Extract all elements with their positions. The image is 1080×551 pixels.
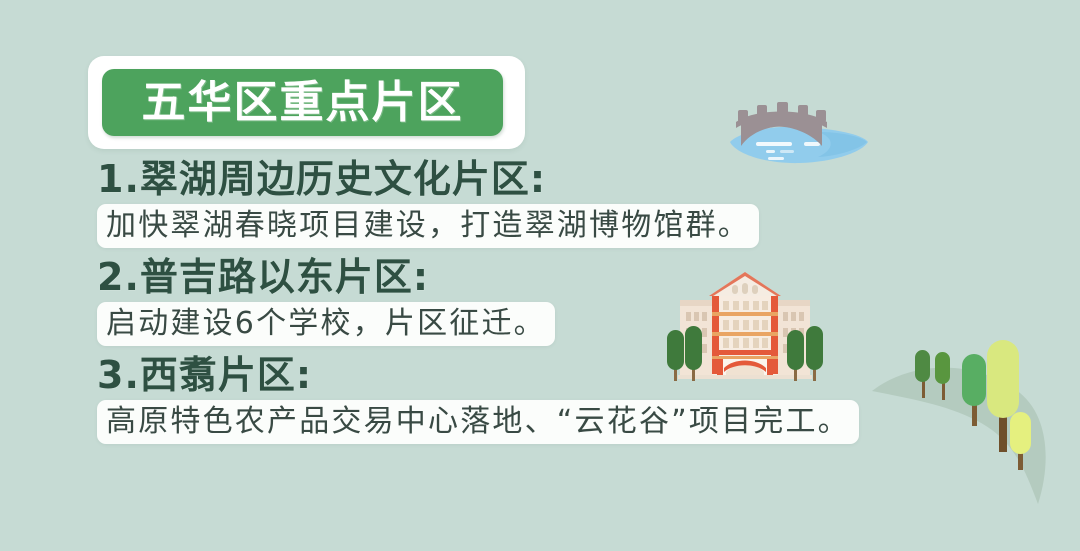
section-heading: 1.翠湖周边历史文化片区:	[97, 158, 1080, 201]
section-body: 加快翠湖春晓项目建设，打造翠湖博物馆群。	[97, 204, 759, 248]
infographic-poster: 五华区重点片区 1.翠湖周边历史文化片区: 加快翠湖春晓项目建设，打造翠湖博物馆…	[0, 0, 1080, 551]
section-item: 2.普吉路以东片区: 启动建设6个学校，片区征迁。	[0, 256, 1080, 346]
section-body-wrap: 启动建设6个学校，片区征迁。	[97, 301, 1080, 347]
section-body: 启动建设6个学校，片区征迁。	[97, 302, 555, 346]
section-heading: 3.西翥片区:	[97, 354, 1080, 397]
section-item: 3.西翥片区: 高原特色农产品交易中心落地、“云花谷”项目完工。	[0, 354, 1080, 444]
section-item: 1.翠湖周边历史文化片区: 加快翠湖春晓项目建设，打造翠湖博物馆群。	[0, 158, 1080, 248]
section-body-wrap: 高原特色农产品交易中心落地、“云花谷”项目完工。	[97, 399, 942, 445]
page-title: 五华区重点片区	[142, 81, 464, 125]
title-badge: 五华区重点片区	[102, 69, 503, 136]
section-body-wrap: 加快翠湖春晓项目建设，打造翠湖博物馆群。	[97, 203, 1080, 249]
section-heading: 2.普吉路以东片区:	[97, 256, 1080, 299]
section-body: 高原特色农产品交易中心落地、“云花谷”项目完工。	[97, 400, 859, 444]
section-list: 1.翠湖周边历史文化片区: 加快翠湖春晓项目建设，打造翠湖博物馆群。 2.普吉路…	[0, 158, 1080, 451]
